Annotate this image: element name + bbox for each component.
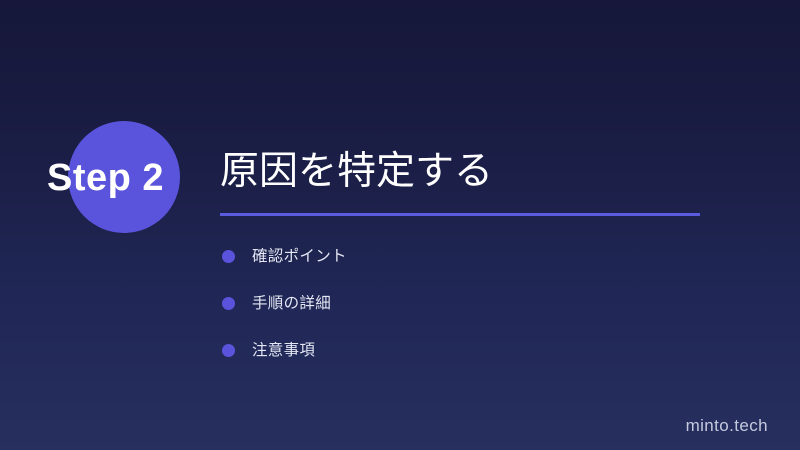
slide-title: 原因を特定する (220, 148, 493, 196)
bullet-dot-icon (222, 297, 235, 310)
list-item: 注意事項 (220, 327, 700, 374)
step-badge-label: Step 2 (47, 155, 207, 201)
title-divider (220, 213, 700, 216)
footer-brand: minto.tech (686, 416, 768, 436)
bullet-item-label: 注意事項 (252, 341, 315, 361)
bullet-dot-icon (222, 344, 235, 357)
bullet-item-label: 手順の詳細 (252, 294, 331, 314)
bullet-list: 確認ポイント 手順の詳細 注意事項 (220, 233, 700, 374)
bullet-dot-icon (222, 250, 235, 263)
presentation-slide: Step 2 原因を特定する 確認ポイント 手順の詳細 注意事項 minto.t… (0, 0, 800, 450)
bullet-item-label: 確認ポイント (252, 247, 347, 267)
list-item: 手順の詳細 (220, 280, 700, 327)
list-item: 確認ポイント (220, 233, 700, 280)
